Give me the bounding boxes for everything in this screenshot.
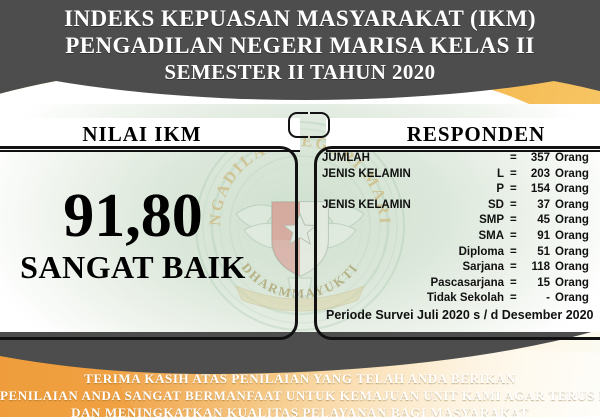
responden-row-equals: = — [510, 168, 522, 180]
responden-row-equals: = — [510, 277, 522, 289]
footer-line-2: PENILAIAN ANDA SANGAT BERMANFAAT UNTUK K… — [0, 387, 600, 404]
responden-row-unit: Orang — [550, 152, 589, 164]
footer-line-1: TERIMA KASIH ATAS PENILAIAN YANG TELAH A… — [0, 370, 600, 387]
responden-row-unit: Orang — [550, 246, 589, 258]
bracket-notch-right-icon — [310, 112, 330, 138]
poster-title: INDEKS KEPUASAN MASYARAKAT (IKM) PENGADI… — [0, 6, 600, 85]
responden-row-unit: Orang — [550, 214, 589, 226]
responden-row-unit: Orang — [550, 292, 589, 304]
responden-row-equals: = — [510, 261, 522, 273]
responden-row: Diploma=51Orang — [322, 246, 600, 262]
responden-row-value: 203 — [522, 168, 550, 180]
responden-row-key: P — [426, 183, 510, 195]
responden-row-key: Pascasarjana — [426, 277, 510, 289]
survey-period: Periode Survei Juli 2020 s / d Desember … — [326, 308, 600, 322]
ikm-score-value: 91,80 — [0, 186, 292, 246]
responden-row-label: JENIS KELAMIN — [322, 168, 426, 180]
responden-row-equals: = — [510, 292, 522, 304]
responden-row-value: 51 — [522, 246, 550, 258]
responden-row-equals: = — [510, 214, 522, 226]
responden-row-unit: Orang — [550, 230, 589, 242]
footer-banner: TERIMA KASIH ATAS PENILAIAN YANG TELAH A… — [0, 332, 600, 417]
footer-line-3: DAN MENINGKATKAN KUALITAS PELAYANAN BAGI… — [0, 404, 600, 417]
responden-row-equals: = — [510, 183, 522, 195]
title-line-1: INDEKS KEPUASAN MASYARAKAT (IKM) — [0, 6, 600, 32]
responden-row-value: 154 — [522, 183, 550, 195]
responden-row-key: Diploma — [426, 246, 510, 258]
responden-row-value: - — [522, 292, 550, 304]
responden-row-label: JUMLAH — [322, 152, 426, 164]
responden-row-unit: Orang — [550, 183, 589, 195]
responden-row-value: 91 — [522, 230, 550, 242]
section-header-nilai-ikm-label: NILAI IKM — [82, 122, 201, 147]
responden-row-value: 357 — [522, 152, 550, 164]
responden-row: P=154Orang — [322, 183, 600, 199]
poster-canvas: PENGADILAN NEGERI MARISA — [0, 0, 600, 417]
responden-row-value: 15 — [522, 277, 550, 289]
responden-row: JUMLAH=357Orang — [322, 152, 600, 168]
responden-row: Pascasarjana=15Orang — [322, 277, 600, 293]
section-header-responden-label: RESPONDEN — [407, 122, 546, 147]
responden-table: JUMLAH=357OrangJENIS KELAMINL=203OrangP=… — [322, 152, 600, 308]
ikm-score-label: SANGAT BAIK — [0, 250, 292, 284]
responden-row: JENIS KELAMINL=203Orang — [322, 168, 600, 184]
responden-row-value: 118 — [522, 261, 550, 273]
responden-row-value: 45 — [522, 214, 550, 226]
responden-row: Tidak Sekolah=-Orang — [322, 292, 600, 308]
responden-row-equals: = — [510, 230, 522, 242]
responden-row-key: SD — [426, 199, 510, 211]
responden-row-unit: Orang — [550, 277, 589, 289]
title-line-2: PENGADILAN NEGERI MARISA KELAS II — [0, 32, 600, 59]
responden-row: Sarjana=118Orang — [322, 261, 600, 277]
responden-row: SMP=45Orang — [322, 214, 600, 230]
responden-row-key: L — [426, 168, 510, 180]
bracket-notch-left-icon — [288, 112, 308, 138]
responden-row-equals: = — [510, 246, 522, 258]
responden-row: JENIS KELAMINSD=37Orang — [322, 199, 600, 215]
responden-row-key: SMA — [426, 230, 510, 242]
responden-row-equals: = — [510, 199, 522, 211]
footer-message: TERIMA KASIH ATAS PENILAIAN YANG TELAH A… — [0, 370, 600, 417]
responden-row-value: 37 — [522, 199, 550, 211]
responden-row-equals: = — [510, 152, 522, 164]
responden-row-key: Sarjana — [426, 261, 510, 273]
responden-row-label: JENIS KELAMIN — [322, 199, 426, 211]
responden-row-unit: Orang — [550, 199, 589, 211]
responden-row-key: Tidak Sekolah — [426, 292, 510, 304]
responden-row-key: SMP — [426, 214, 510, 226]
responden-row-unit: Orang — [550, 168, 589, 180]
title-line-3: SEMESTER II TAHUN 2020 — [0, 59, 600, 85]
responden-row-unit: Orang — [550, 261, 589, 273]
responden-row: SMA=91Orang — [322, 230, 600, 246]
